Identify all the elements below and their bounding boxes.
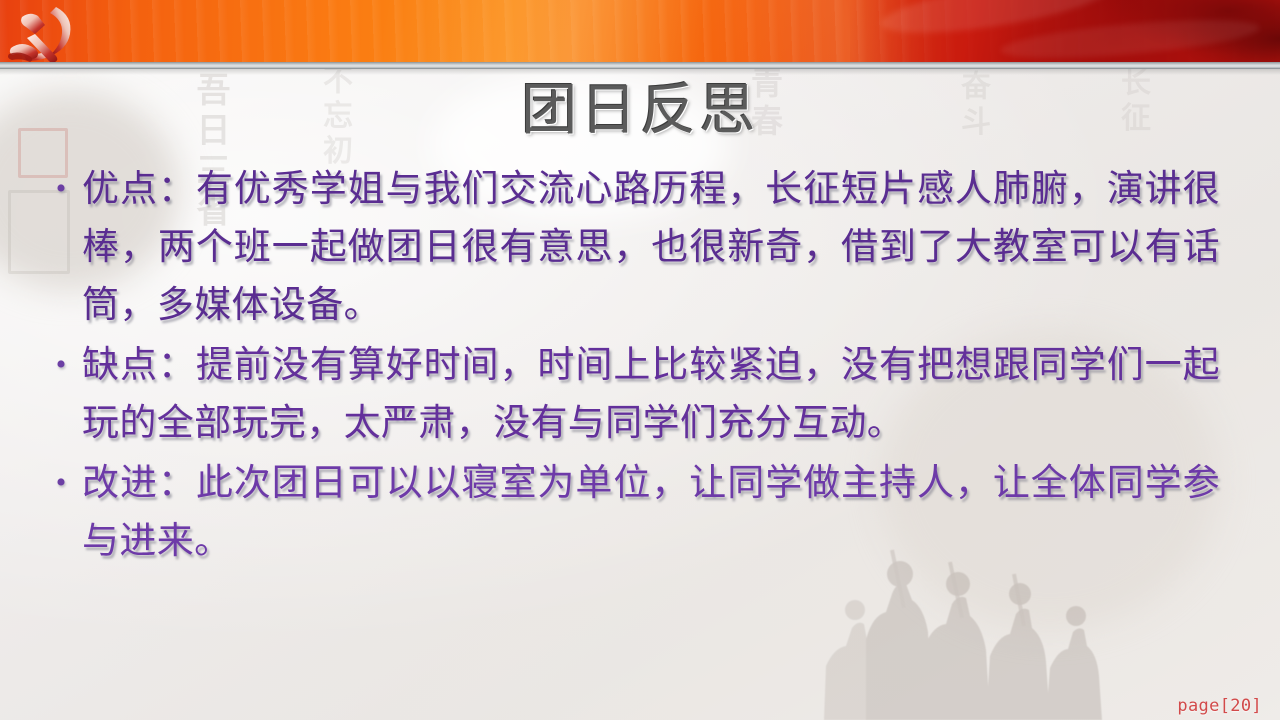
bullet-text: 缺点：提前没有算好时间，时间上比较紧迫，没有把想跟同学们一起玩的全部玩完，太严肃… <box>82 336 1220 452</box>
list-item: • 缺点：提前没有算好时间，时间上比较紧迫，没有把想跟同学们一起玩的全部玩完，太… <box>40 336 1220 452</box>
cpc-hammer-sickle-emblem <box>4 0 82 62</box>
bullet-marker-icon: • <box>40 454 82 512</box>
header-banner <box>0 0 1280 62</box>
bullet-marker-icon: • <box>40 336 82 394</box>
bullet-text: 优点：有优秀学姐与我们交流心路历程，长征短片感人肺腑，演讲很棒，两个班一起做团日… <box>82 160 1220 334</box>
bullet-text: 改进：此次团日可以以寝室为单位，让同学做主持人，让全体同学参与进来。 <box>82 454 1220 570</box>
page-title: 团日反思 <box>0 78 1280 144</box>
bullet-marker-icon: • <box>40 160 82 218</box>
page-number: page[20] <box>1177 696 1262 716</box>
slide-canvas: 吾日三省 不忘初心 青春 奋斗 长征 <box>0 0 1280 720</box>
banner-divider-strip <box>0 62 1280 69</box>
banner-divider-shadow <box>0 69 1280 75</box>
list-item: • 改进：此次团日可以以寝室为单位，让同学做主持人，让全体同学参与进来。 <box>40 454 1220 570</box>
list-item: • 优点：有优秀学姐与我们交流心路历程，长征短片感人肺腑，演讲很棒，两个班一起做… <box>40 160 1220 334</box>
red-flag-ribbon <box>850 0 1280 62</box>
bullet-list: • 优点：有优秀学姐与我们交流心路历程，长征短片感人肺腑，演讲很棒，两个班一起做… <box>40 160 1220 572</box>
